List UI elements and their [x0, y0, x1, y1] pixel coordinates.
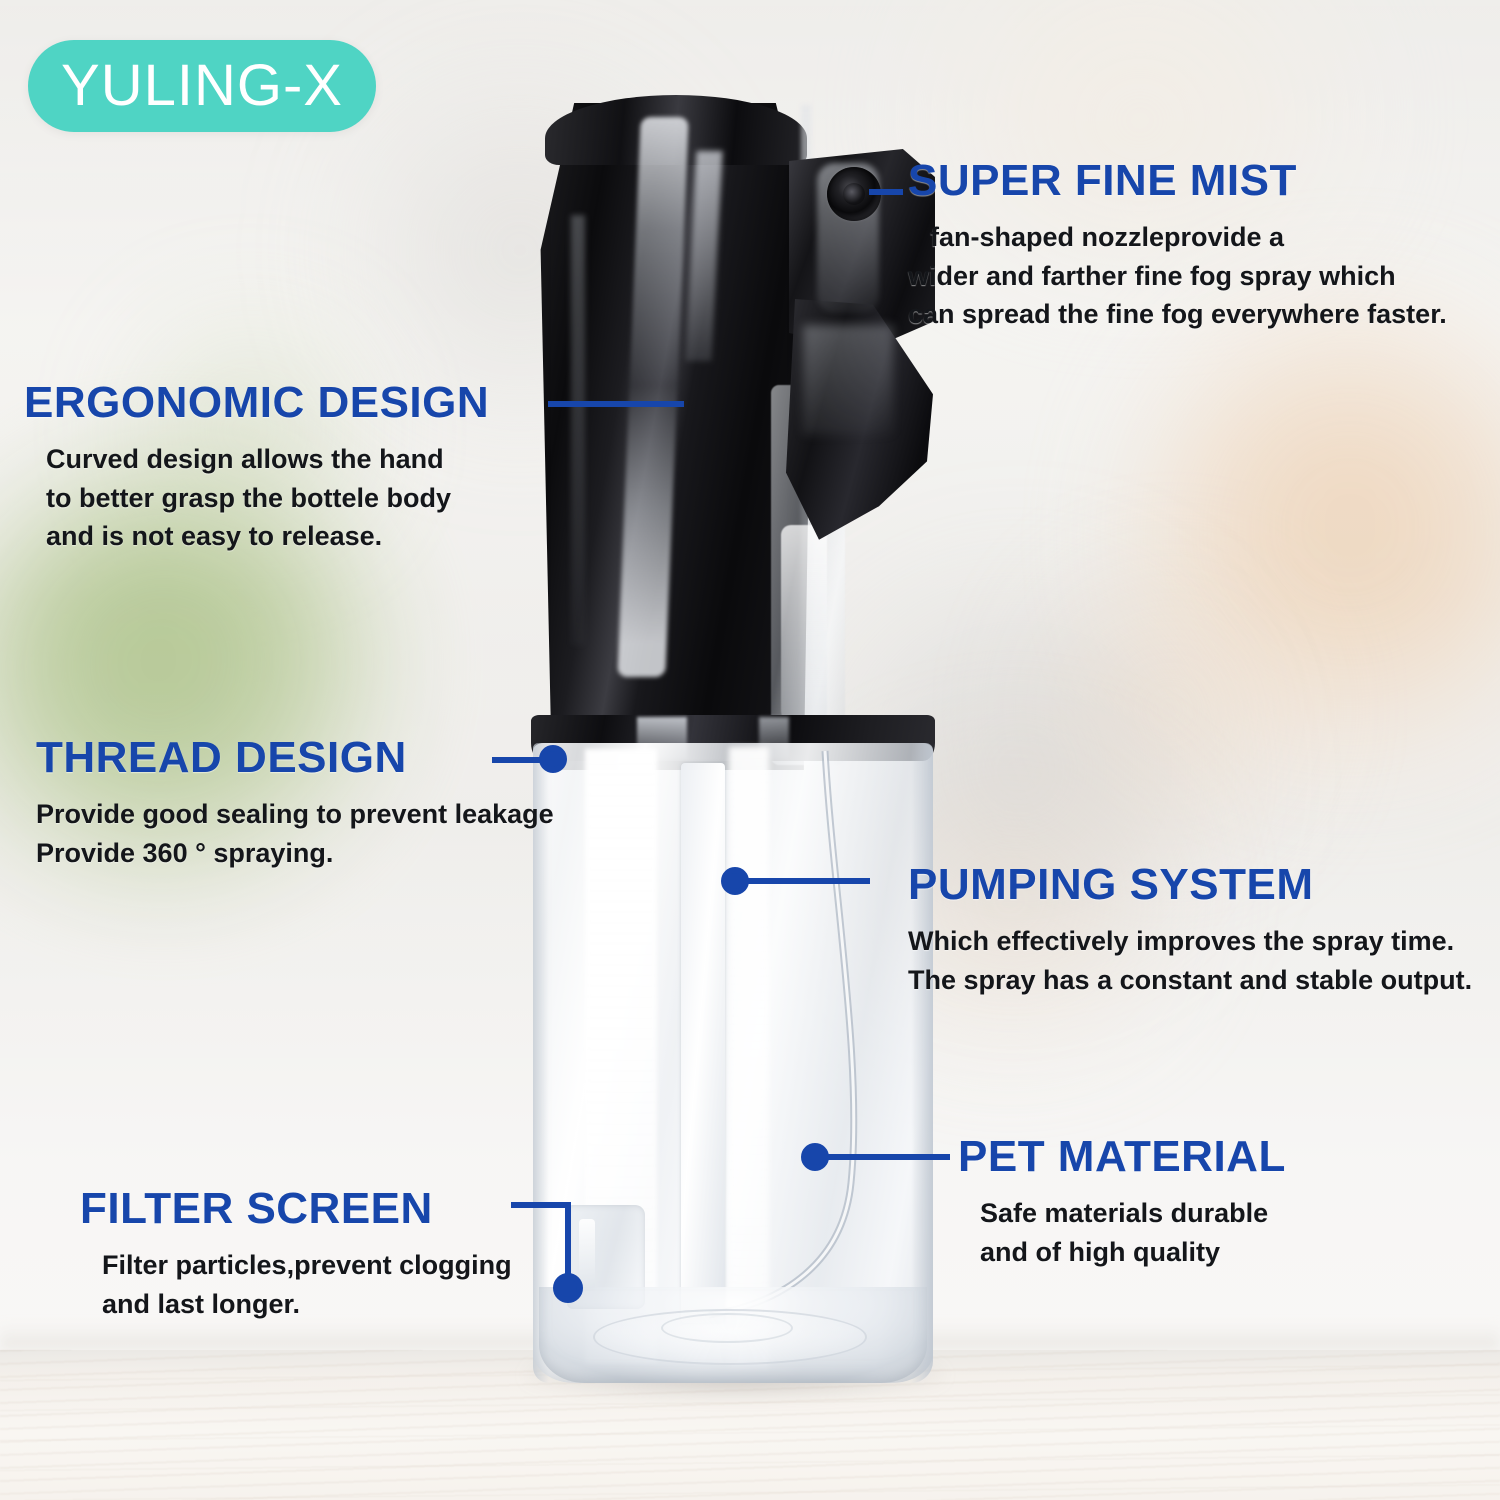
- callout-line: Which effectively improves the spray tim…: [908, 922, 1472, 960]
- callout-line: to better grasp the bottele body: [24, 479, 489, 517]
- callout-filter-screen: FILTER SCREEN Filter particles,prevent c…: [80, 1186, 512, 1323]
- callout-title: PET MATERIAL: [958, 1134, 1286, 1180]
- callout-line: fan-shaped nozzleprovide a: [908, 218, 1447, 256]
- brand-name: YULING-X: [61, 57, 343, 115]
- callout-line: Curved design allows the hand: [24, 440, 489, 478]
- callout-line: Safe materials durable: [958, 1194, 1286, 1232]
- callout-line: Filter particles,prevent clogging: [80, 1246, 512, 1284]
- callout-line: Provide good sealing to prevent leakage: [36, 795, 554, 833]
- callout-title: ERGONOMIC DESIGN: [24, 380, 489, 426]
- bottle-base-ring: [661, 1313, 793, 1343]
- callout-line: Provide 360 ° spraying.: [36, 834, 554, 872]
- sprayer-head: [525, 95, 925, 770]
- callout-line: wider and farther fine fog spray which: [908, 257, 1447, 295]
- infographic-canvas: YULING-X: [0, 0, 1500, 1500]
- callout-line: and last longer.: [80, 1285, 512, 1323]
- clear-bottle: [533, 743, 933, 1383]
- callout-pet-material: PET MATERIAL Safe materials durable and …: [958, 1134, 1286, 1271]
- callout-ergonomic-design: ERGONOMIC DESIGN Curved design allows th…: [24, 380, 489, 555]
- callout-pumping-system: PUMPING SYSTEM Which effectively improve…: [908, 862, 1472, 999]
- callout-title: PUMPING SYSTEM: [908, 862, 1472, 908]
- product-image: [505, 95, 965, 1385]
- spray-nozzle-icon: [827, 167, 881, 221]
- brand-badge: YULING-X: [28, 40, 376, 132]
- callout-title: SUPER FINE MIST: [908, 158, 1447, 204]
- gloss-highlight: [571, 215, 585, 645]
- callout-line: and of high quality: [958, 1233, 1286, 1271]
- gloss-highlight: [729, 747, 769, 1368]
- callout-title: FILTER SCREEN: [80, 1186, 512, 1232]
- callout-title: THREAD DESIGN: [36, 735, 554, 781]
- callout-line: can spread the fine fog everywhere faste…: [908, 295, 1447, 333]
- callout-line: and is not easy to release.: [24, 517, 489, 555]
- callout-super-fine-mist: SUPER FINE MIST fan-shaped nozzleprovide…: [908, 158, 1447, 333]
- callout-thread-design: THREAD DESIGN Provide good sealing to pr…: [36, 735, 554, 872]
- gloss-highlight: [803, 325, 893, 435]
- callout-line: The spray has a constant and stable outp…: [908, 961, 1472, 999]
